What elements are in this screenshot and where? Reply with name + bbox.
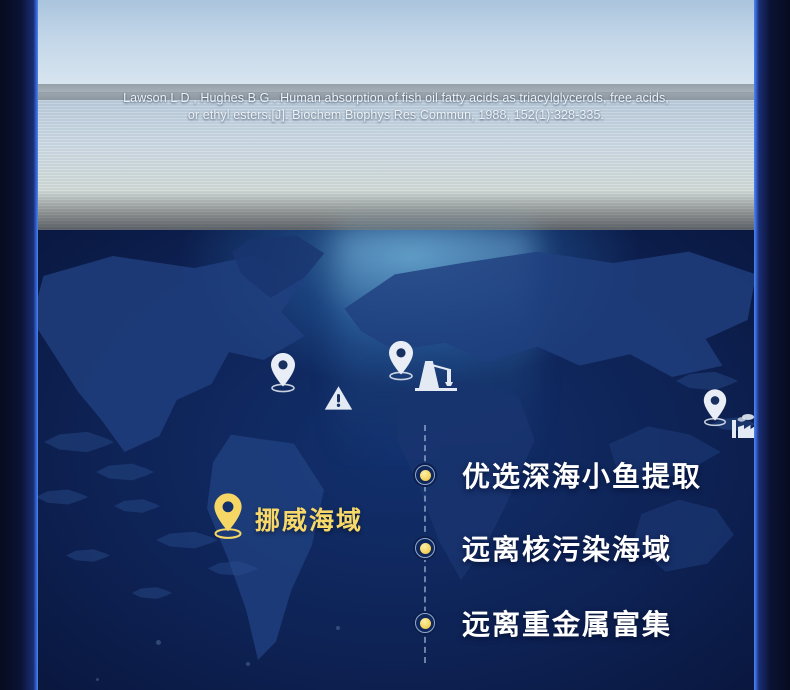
warning-triangle-icon bbox=[324, 385, 353, 411]
fish-silhouette bbox=[156, 530, 218, 550]
bullet-dot-icon bbox=[415, 465, 435, 485]
map-pin-norway-sea bbox=[211, 492, 245, 545]
page-root: Lawson L D , Hughes B G . Human absorpti… bbox=[0, 0, 790, 690]
bullet-dot-icon bbox=[415, 613, 435, 633]
norway-sea-location-label[interactable]: 挪威海域 bbox=[211, 492, 363, 545]
feature-label-1: 远离核污染海域 bbox=[462, 528, 672, 568]
citation-line-2: or ethyl esters.[J]. Biochem Biophys Res… bbox=[36, 107, 756, 124]
left-edge-accent bbox=[0, 0, 38, 690]
right-edge-accent bbox=[754, 0, 790, 690]
bubble bbox=[156, 640, 161, 645]
hero-photo-mountains-and-sea: Lawson L D , Hughes B G . Human absorpti… bbox=[36, 0, 756, 250]
map-pin-europe[interactable] bbox=[386, 340, 416, 382]
fish-silhouette bbox=[132, 586, 172, 600]
citation-line-1: Lawson L D , Hughes B G . Human absorpti… bbox=[36, 90, 756, 107]
sky-background bbox=[36, 0, 756, 92]
map-pin-north-america[interactable] bbox=[268, 352, 298, 394]
feature-list: 优选深海小鱼提取 远离核污染海域 远离重金属富集 bbox=[369, 425, 756, 670]
feature-label-0: 优选深海小鱼提取 bbox=[462, 455, 702, 495]
feature-label-2: 远离重金属富集 bbox=[462, 603, 672, 643]
landmass-south-america bbox=[186, 430, 336, 660]
bubble bbox=[336, 626, 340, 630]
fish-silhouette bbox=[44, 430, 114, 454]
map-pin-east-asia[interactable] bbox=[701, 388, 729, 428]
citation-text: Lawson L D , Hughes B G . Human absorpti… bbox=[36, 90, 756, 124]
oil-derrick-marker-europe[interactable] bbox=[414, 358, 458, 394]
fish-silhouette bbox=[114, 498, 160, 514]
fish-silhouette bbox=[36, 488, 88, 506]
map-pin-icon bbox=[386, 340, 416, 382]
map-pin-icon bbox=[211, 492, 245, 540]
fish-silhouette bbox=[66, 548, 110, 563]
map-pin-icon bbox=[701, 388, 729, 428]
oil-derrick-icon bbox=[414, 358, 458, 394]
bubble bbox=[246, 662, 250, 666]
bubble bbox=[96, 678, 99, 681]
bullet-dot-icon bbox=[415, 538, 435, 558]
content-canvas: Lawson L D , Hughes B G . Human absorpti… bbox=[36, 0, 756, 690]
map-pin-icon bbox=[268, 352, 298, 394]
warning-marker-north-america[interactable] bbox=[324, 385, 353, 411]
norway-sea-label-text: 挪威海域 bbox=[255, 501, 363, 537]
feature-item-1[interactable]: 远离核污染海域 bbox=[369, 528, 672, 568]
feature-item-0[interactable]: 优选深海小鱼提取 bbox=[369, 455, 702, 495]
feature-item-2[interactable]: 远离重金属富集 bbox=[369, 603, 672, 643]
fish-silhouette bbox=[96, 462, 154, 482]
